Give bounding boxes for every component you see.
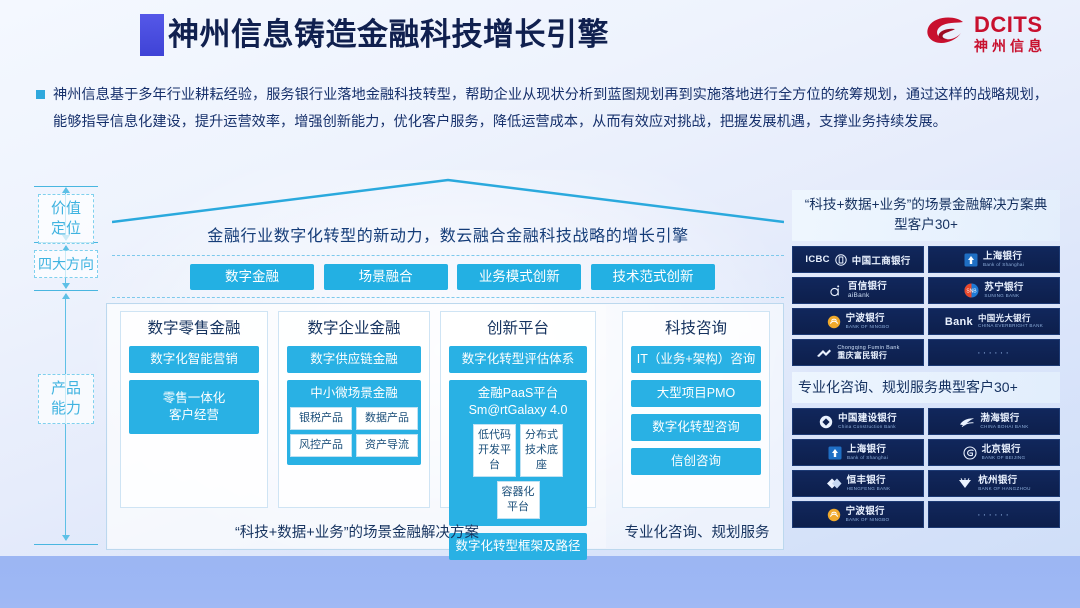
column-title: 数字企业金融 bbox=[287, 319, 421, 339]
client-logo-bank-of-ningbo-2[interactable]: 宁波银行 BANK OF NINGBO bbox=[792, 501, 924, 528]
capability-box-transformation-assessment[interactable]: 数字化转型评估体系 bbox=[449, 346, 587, 373]
client-logo-name: 苏宁银行 bbox=[984, 283, 1023, 293]
client-logo-text: 渤海银行 CHINA BOHAI BANK bbox=[980, 414, 1028, 430]
left-axis: 价值 定位 四大方向 产品 能力 bbox=[34, 186, 106, 546]
client-logo-name: 百信银行 bbox=[848, 282, 887, 292]
client-logo-en: Bank of Shanghai bbox=[983, 263, 1024, 268]
client-logo-text: 中国建设银行 China Construction Bank bbox=[838, 414, 897, 430]
aibank-icon bbox=[829, 284, 843, 298]
direction-chip-scenario-fusion[interactable]: 场景融合 bbox=[324, 264, 448, 290]
capability-box-supply-chain-finance[interactable]: 数字供应链金融 bbox=[287, 346, 421, 373]
clients-section2-logo-grid: 中国建设银行 China Construction Bank 渤海银行 CHIN… bbox=[792, 408, 1060, 528]
client-logo-en: SUNING BANK bbox=[984, 294, 1023, 299]
box-line2: 客户经营 bbox=[132, 407, 256, 424]
ellipsis-icon: ······ bbox=[977, 347, 1011, 359]
client-logo-bank-of-shanghai-2[interactable]: 上海银行 Bank of Shanghai bbox=[792, 439, 924, 466]
client-logo-text: 宁波银行 BANK OF NINGBO bbox=[846, 314, 890, 330]
sub-capability-grid: 银税产品 数据产品 风控产品 资产导流 bbox=[290, 407, 418, 457]
client-logo-bank-of-ningbo[interactable]: 宁波银行 BANK OF NINGBO bbox=[792, 308, 924, 335]
suning-bank-icon: SNB bbox=[964, 283, 979, 298]
column-title: 创新平台 bbox=[449, 319, 587, 339]
intro-paragraph: 神州信息基于多年行业耕耘经验，服务银行业落地金融科技转型，帮助企业从现状分析到蓝… bbox=[36, 82, 1048, 136]
capability-box-large-project-pmo[interactable]: 大型项目PMO bbox=[631, 380, 761, 407]
client-logo-ccb[interactable]: 中国建设银行 China Construction Bank bbox=[792, 408, 924, 435]
client-logo-chongqing-fumin-bank[interactable]: Chongqing Fumin Bank 重庆富民银行 bbox=[792, 339, 924, 366]
client-logo-en: CHINA EVERBRIGHT BANK bbox=[978, 324, 1043, 329]
slide-canvas: 神州信息铸造金融科技增长引擎 DCITS 神州信息 神州信息基于多年行业耕耘经验… bbox=[0, 0, 1080, 608]
sub-capability-risk-product[interactable]: 风控产品 bbox=[290, 434, 352, 457]
column-title: 科技咨询 bbox=[631, 319, 761, 339]
slide-header: 神州信息铸造金融科技增长引擎 DCITS 神州信息 bbox=[0, 0, 1080, 72]
client-logo-text: 上海银行 Bank of Shanghai bbox=[983, 252, 1024, 268]
bank-of-shanghai-icon bbox=[828, 446, 842, 460]
capability-box-it-consulting[interactable]: IT（业务+架构）咨询 bbox=[631, 346, 761, 373]
capability-box-retail-integration[interactable]: 零售一体化 客户经营 bbox=[129, 380, 259, 434]
client-logo-name: 恒丰银行 bbox=[847, 476, 891, 486]
intro-text: 神州信息基于多年行业耕耘经验，服务银行业落地金融科技转型，帮助企业从现状分析到蓝… bbox=[53, 82, 1048, 136]
client-logo-name: 中国光大银行 bbox=[978, 314, 1043, 323]
box-line2: Sm@rtGalaxy 4.0 bbox=[452, 402, 584, 419]
clients-section1-logo-grid: ICBC 中国工商银行 上海银行 Bank of Shanghai bbox=[792, 246, 1060, 366]
client-logo-name: 上海银行 bbox=[983, 252, 1024, 262]
capability-box-smart-marketing[interactable]: 数字化智能营销 bbox=[129, 346, 259, 373]
axis-label-line2: 能力 bbox=[39, 399, 93, 419]
direction-chip-business-model-innovation[interactable]: 业务模式创新 bbox=[457, 264, 581, 290]
client-logo-en: BANK OF HANGZHOU bbox=[978, 487, 1031, 492]
logo-text: DCITS 神州信息 bbox=[974, 14, 1046, 53]
client-logo-bohai-bank[interactable]: 渤海银行 CHINA BOHAI BANK bbox=[928, 408, 1060, 435]
axis-divider bbox=[34, 544, 98, 545]
bank-of-hangzhou-icon bbox=[957, 477, 973, 490]
client-logo-en: HENGFENG BANK bbox=[847, 487, 891, 492]
four-directions-row: 数字金融 场景融合 业务模式创新 技术范式创新 bbox=[190, 264, 715, 290]
box-label: 中小微场景金融 bbox=[290, 385, 418, 402]
client-logo-aibank[interactable]: 百信银行 aiBank bbox=[792, 277, 924, 304]
client-logo-hengfeng-bank[interactable]: 恒丰银行 HENGFENG BANK bbox=[792, 470, 924, 497]
client-logo-text: 百信银行 aiBank bbox=[848, 282, 887, 300]
sub-capability-distributed-base[interactable]: 分布式技术底座 bbox=[520, 424, 563, 477]
sub-capability-data-product[interactable]: 数据产品 bbox=[356, 407, 418, 430]
capability-column-digital-enterprise-finance[interactable]: 数字企业金融 数字供应链金融 中小微场景金融 银税产品 数据产品 风控产品 资产… bbox=[278, 311, 430, 508]
capability-column-innovation-platform[interactable]: 创新平台 数字化转型评估体系 金融PaaS平台 Sm@rtGalaxy 4.0 … bbox=[440, 311, 596, 508]
client-logo-text: 杭州银行 BANK OF HANGZHOU bbox=[978, 476, 1031, 492]
caption-consulting-planning-service: 专业化咨询、规划服务 bbox=[610, 521, 784, 542]
capability-box-sme-scenario-finance[interactable]: 中小微场景金融 银税产品 数据产品 风控产品 资产导流 bbox=[287, 380, 421, 465]
dashed-separator bbox=[112, 255, 784, 256]
client-logo-bank-of-hangzhou[interactable]: 杭州银行 BANK OF HANGZHOU bbox=[928, 470, 1060, 497]
title-accent-bar bbox=[140, 14, 164, 56]
client-logo-text: Chongqing Fumin Bank 重庆富民银行 bbox=[837, 345, 899, 360]
client-logo-bank-of-shanghai[interactable]: 上海银行 Bank of Shanghai bbox=[928, 246, 1060, 273]
client-logo-name: 重庆富民银行 bbox=[837, 352, 899, 360]
box-line1: 零售一体化 bbox=[132, 390, 256, 407]
bank-of-ningbo-icon bbox=[827, 315, 841, 329]
client-logo-en: China Construction Bank bbox=[838, 425, 897, 430]
client-logo-en: BANK OF BEIJING bbox=[982, 456, 1026, 461]
icbc-en-prefix: ICBC bbox=[805, 254, 829, 265]
sub-capability-lowcode-platform[interactable]: 低代码开发平台 bbox=[473, 424, 516, 477]
client-logo-name: 中国工商银行 bbox=[852, 253, 911, 267]
capability-box-financial-paas[interactable]: 金融PaaS平台 Sm@rtGalaxy 4.0 低代码开发平台 分布式技术底座… bbox=[449, 380, 587, 526]
center-tagline: 金融行业数字化转型的新动力，数云融合金融科技战略的增长引擎 bbox=[112, 222, 784, 246]
axis-label-line1: 产品 bbox=[39, 379, 93, 399]
client-logo-name: 杭州银行 bbox=[978, 476, 1031, 486]
client-logo-en: BANK OF NINGBO bbox=[846, 518, 890, 523]
client-logo-en: aiBank bbox=[848, 293, 887, 300]
sub-capability-asset-routing[interactable]: 资产导流 bbox=[356, 434, 418, 457]
box-line1: 金融PaaS平台 bbox=[452, 385, 584, 402]
sub-capability-container-platform[interactable]: 容器化平台 bbox=[497, 481, 540, 519]
page-title: 神州信息铸造金融科技增长引擎 bbox=[168, 14, 609, 56]
client-logo-text: 苏宁银行 SUNING BANK bbox=[984, 283, 1023, 299]
client-logo-en: Bank of Shanghai bbox=[847, 456, 888, 461]
axis-label-product-capability: 产品 能力 bbox=[38, 374, 94, 424]
client-logo-name: 宁波银行 bbox=[846, 507, 890, 517]
bank-of-shanghai-icon bbox=[964, 253, 978, 267]
ellipsis-icon: ······ bbox=[977, 509, 1011, 521]
client-logo-name: 中国建设银行 bbox=[838, 414, 897, 424]
client-logo-en: CHINA BOHAI BANK bbox=[980, 425, 1028, 430]
hengfeng-bank-icon bbox=[826, 477, 842, 490]
client-logo-name: 渤海银行 bbox=[980, 414, 1028, 424]
bank-of-ningbo-icon bbox=[827, 508, 841, 522]
svg-text:SNB: SNB bbox=[967, 289, 978, 295]
client-logo-bank-of-beijing[interactable]: 北京银行 BANK OF BEIJING bbox=[928, 439, 1060, 466]
client-logo-suning-bank[interactable]: SNB 苏宁银行 SUNING BANK bbox=[928, 277, 1060, 304]
bohai-bank-icon bbox=[959, 416, 975, 428]
logo-en-text: DCITS bbox=[974, 14, 1046, 36]
axis-divider bbox=[34, 290, 98, 291]
client-logo-everbright[interactable]: Bank 中国光大银行 CHINA EVERBRIGHT BANK bbox=[928, 308, 1060, 335]
capability-box-transformation-consulting[interactable]: 数字化转型咨询 bbox=[631, 414, 761, 441]
roof-shape-icon bbox=[112, 178, 784, 224]
dashed-separator bbox=[112, 297, 784, 298]
capability-box-xinchuang-consulting[interactable]: 信创咨询 bbox=[631, 448, 761, 475]
everbright-icon: Bank bbox=[945, 316, 973, 328]
column-title: 数字零售金融 bbox=[129, 319, 259, 339]
direction-chip-tech-paradigm-innovation[interactable]: 技术范式创新 bbox=[591, 264, 715, 290]
axis-label-line2: 定位 bbox=[39, 219, 93, 239]
client-logo-name: 宁波银行 bbox=[846, 314, 890, 324]
capability-column-digital-retail-finance[interactable]: 数字零售金融 数字化智能营销 零售一体化 客户经营 bbox=[120, 311, 268, 508]
client-logo-en: BANK OF NINGBO bbox=[846, 325, 890, 330]
client-logo-name: 北京银行 bbox=[982, 445, 1026, 455]
sub-capability-tax-product[interactable]: 银税产品 bbox=[290, 407, 352, 430]
dcits-logo: DCITS 神州信息 bbox=[925, 14, 1046, 53]
axis-label-line1: 价值 bbox=[39, 199, 93, 219]
client-logo-name: 上海银行 bbox=[847, 445, 888, 455]
clients-section2-title: 专业化咨询、规划服务典型客户30+ bbox=[792, 372, 1060, 403]
clients-section1-title: “科技+数据+业务”的场景金融解决方案典型客户30+ bbox=[792, 190, 1060, 241]
sub-capability-grid: 低代码开发平台 分布式技术底座 容器化平台 bbox=[452, 424, 584, 519]
logo-cn-text: 神州信息 bbox=[974, 39, 1046, 53]
axis-label-value-positioning: 价值 定位 bbox=[38, 194, 94, 244]
client-logo-text: 宁波银行 BANK OF NINGBO bbox=[846, 507, 890, 523]
bottom-color-band bbox=[0, 556, 1080, 608]
client-logo-text: 北京银行 BANK OF BEIJING bbox=[982, 445, 1026, 461]
client-logo-text: 恒丰银行 HENGFENG BANK bbox=[847, 476, 891, 492]
ccb-icon bbox=[819, 415, 833, 429]
client-logo-text: 上海银行 Bank of Shanghai bbox=[847, 445, 888, 461]
dcits-swoosh-icon bbox=[925, 15, 967, 53]
icbc-icon bbox=[835, 254, 847, 266]
direction-chip-digital-finance[interactable]: 数字金融 bbox=[190, 264, 314, 290]
bullet-square-icon bbox=[36, 90, 45, 99]
caption-scenario-finance-solution: “科技+数据+业务”的场景金融解决方案 bbox=[108, 521, 606, 542]
client-logo-more-2[interactable]: ······ bbox=[928, 501, 1060, 528]
bank-of-beijing-icon bbox=[963, 446, 977, 460]
client-logo-icbc[interactable]: ICBC 中国工商银行 bbox=[792, 246, 924, 273]
clients-panel: “科技+数据+业务”的场景金融解决方案典型客户30+ ICBC 中国工商银行 上… bbox=[792, 190, 1060, 548]
client-logo-more[interactable]: ······ bbox=[928, 339, 1060, 366]
client-logo-text: 中国光大银行 CHINA EVERBRIGHT BANK bbox=[978, 314, 1043, 329]
axis-label-four-directions: 四大方向 bbox=[34, 250, 98, 278]
capability-column-tech-consulting[interactable]: 科技咨询 IT（业务+架构）咨询 大型项目PMO 数字化转型咨询 信创咨询 bbox=[622, 311, 770, 508]
fumin-bank-icon bbox=[816, 347, 832, 359]
